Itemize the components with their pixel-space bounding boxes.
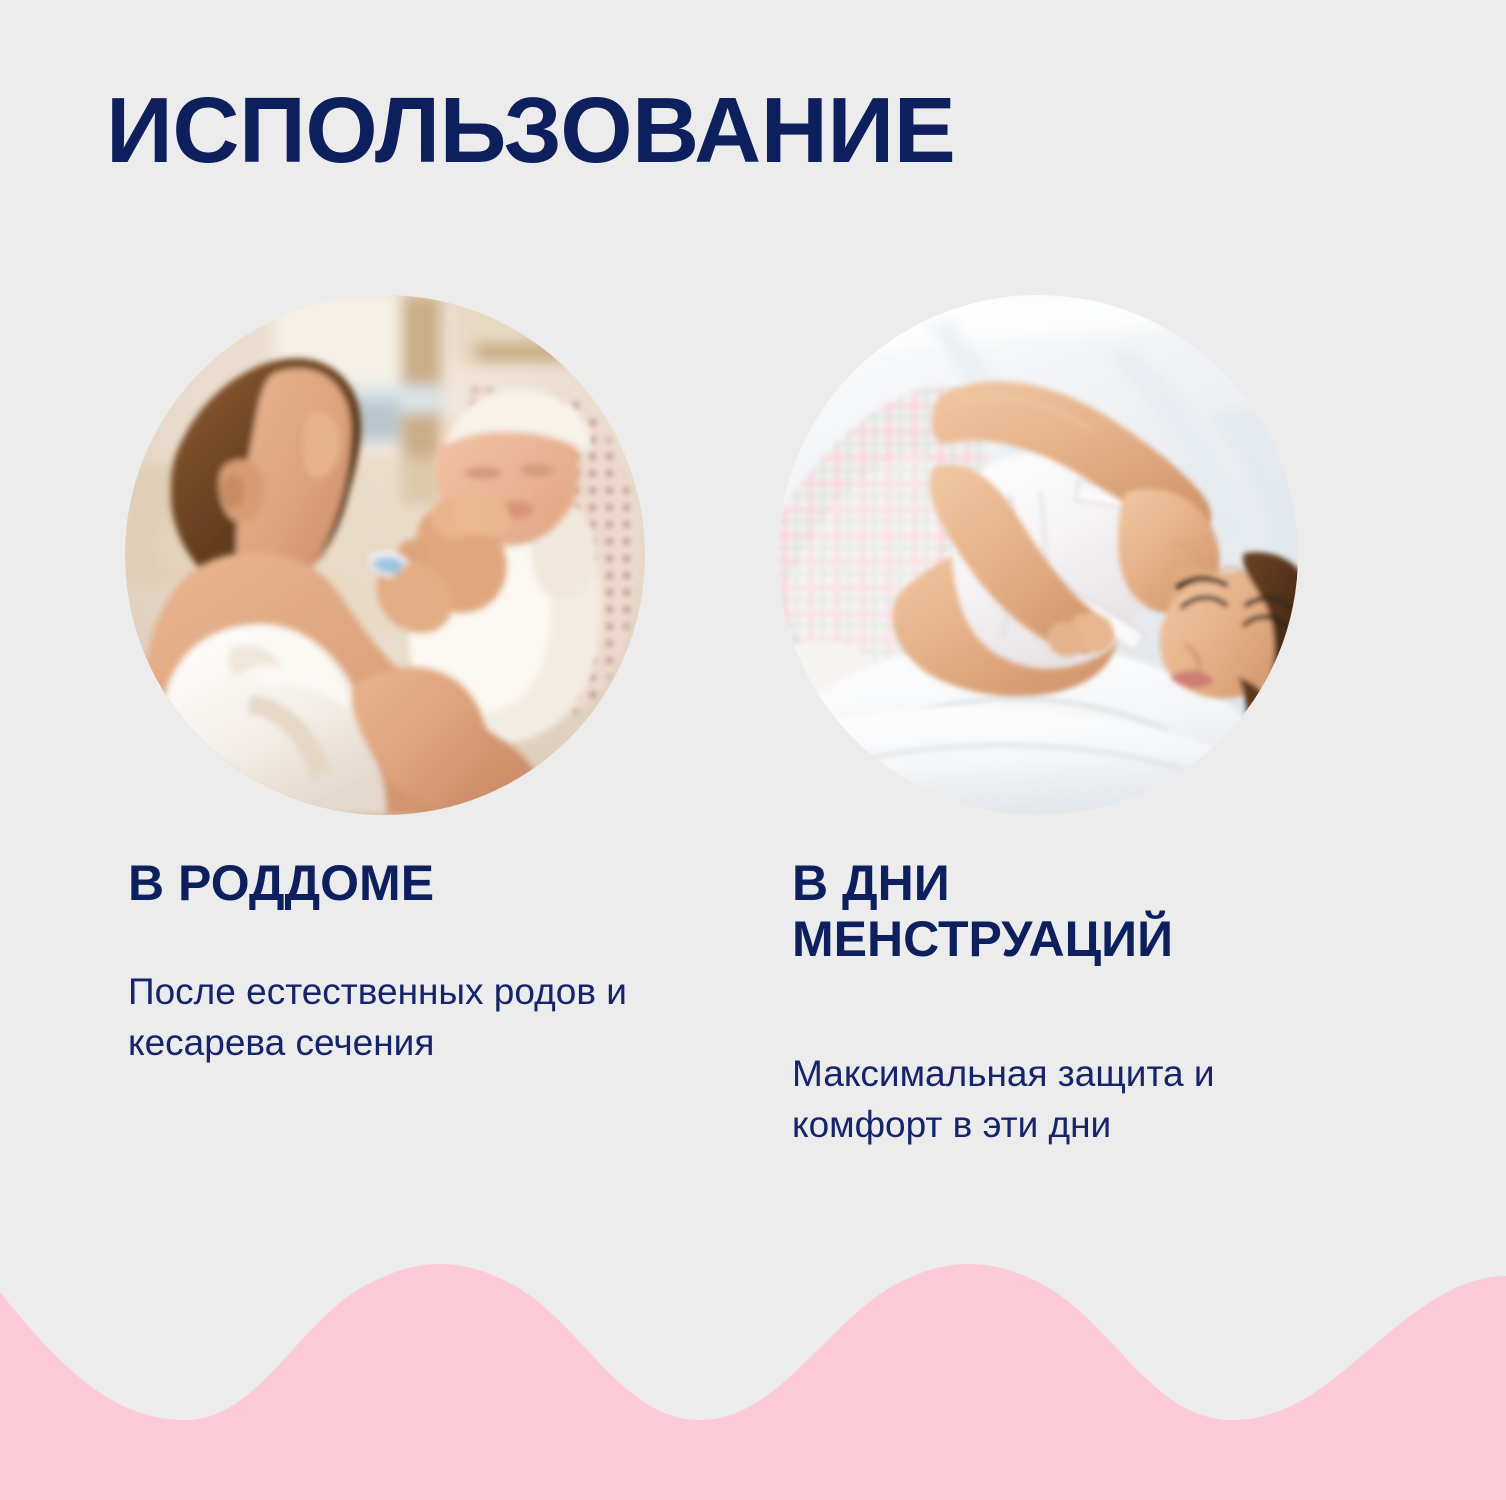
woman-with-cramps-in-bed-illustration — [778, 295, 1298, 815]
card-heading-menstruation-days: В ДНИМЕНСТРУАЦИЙ — [792, 855, 1392, 967]
usage-infographic: ИСПОЛЬЗОВАНИЕ — [0, 0, 1506, 1500]
photo-menstruation-days — [778, 295, 1298, 815]
usage-cards: В РОДДОМЕ После естественных родов и кес… — [0, 0, 1506, 1280]
photo-maternity-hospital — [125, 295, 645, 815]
card-heading-maternity-hospital: В РОДДОМЕ — [128, 855, 688, 911]
card-body-maternity-hospital: После естественных родов и кесарева сече… — [128, 966, 688, 1068]
usage-card-menstruation-days: В ДНИМЕНСТРУАЦИЙ Максимальная защита и к… — [772, 0, 1432, 1280]
mother-and-newborn-illustration — [125, 295, 645, 815]
card-body-menstruation-days: Максимальная защита и комфорт в эти дни — [792, 1048, 1312, 1150]
usage-card-maternity-hospital: В РОДДОМЕ После естественных родов и кес… — [120, 0, 780, 1280]
pink-wave-decoration — [0, 1230, 1506, 1500]
